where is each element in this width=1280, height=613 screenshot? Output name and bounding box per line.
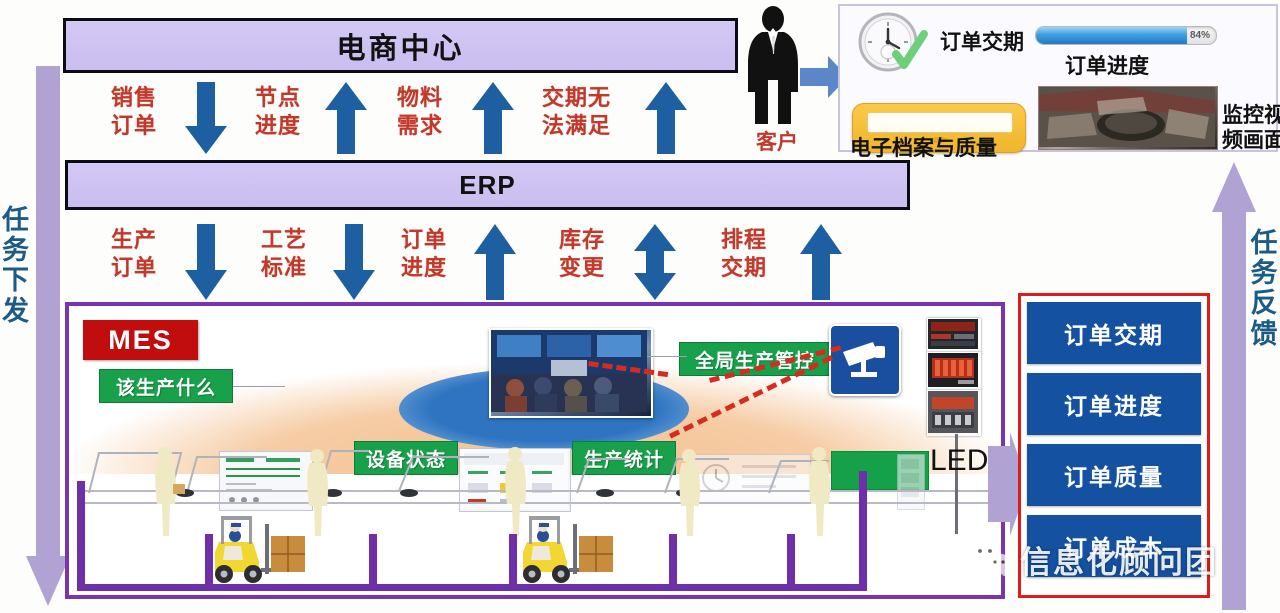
flow-mid-label-3: 库存 变更: [544, 226, 620, 282]
flow-mid-arrow-up-2: [474, 224, 516, 300]
label-line: 进度: [240, 112, 316, 140]
kpi-box-order-cost[interactable]: 订单成本: [1027, 515, 1201, 577]
glabel-text: 该生产什么: [116, 373, 216, 400]
label-line: 库存: [544, 226, 620, 254]
side-char: 下: [2, 265, 28, 295]
order-progress-percent: 84%: [1190, 27, 1210, 44]
kpi-label: 订单交期: [1064, 316, 1164, 350]
kpi-panel: 订单交期 订单进度 订单质量 订单成本: [1018, 293, 1210, 598]
flow-top-arrow-down-0: [185, 82, 227, 154]
side-char: 任: [2, 205, 28, 235]
kpi-box-order-quality[interactable]: 订单质量: [1027, 444, 1201, 506]
mes-label-what-to-produce[interactable]: 该生产什么: [99, 369, 233, 403]
label-line: 法满足: [524, 112, 629, 140]
side-char: 发: [2, 296, 28, 326]
mes-frame: 该生产什么 全局生产管控 设备状态 生产统计 MES: [65, 302, 1005, 599]
flow-mid-label-2: 订单 进度: [386, 226, 462, 282]
order-progress-label: 订单进度: [1065, 50, 1149, 80]
label-line: 订单: [96, 112, 172, 140]
flow-top-arrow-up-3: [645, 82, 687, 154]
order-progress-text: 订单进度: [1065, 55, 1149, 78]
card-slot: [867, 112, 1013, 133]
floor-pillar-2: [369, 534, 377, 589]
clock-check-icon: [852, 12, 934, 74]
flow-top-label-3: 交期无 法满足: [524, 84, 629, 140]
flow-top-label-2: 物料 需求: [382, 84, 458, 140]
mes-badge-text: MES: [108, 325, 173, 356]
forklift-0: [209, 506, 319, 584]
floor-pillar-3: [509, 534, 517, 589]
label-line: 销售: [96, 84, 172, 112]
customer-figure-icon: [742, 6, 804, 128]
side-char: 反: [1250, 288, 1278, 318]
flow-mid-label-4: 排程 交期: [706, 226, 782, 282]
forklift-1: [517, 506, 627, 584]
side-char: 务: [2, 235, 28, 265]
floor-pillar-0: [77, 481, 85, 589]
label-line: 进度: [386, 254, 462, 282]
erp-label: ERP: [459, 170, 515, 201]
side-char: 馈: [1250, 319, 1278, 349]
leader-line-1: [233, 386, 285, 387]
surveillance-video-label: 监控视 频画面: [1222, 104, 1280, 154]
left-task-dispatch-arrow: [26, 66, 70, 606]
floor-pillar-5: [787, 534, 795, 589]
label-line: 节点: [240, 84, 316, 112]
label-line: 交期无: [524, 84, 629, 112]
flow-top-arrow-up-1: [325, 82, 367, 154]
led-panel-image-1: [927, 352, 981, 390]
flow-mid-arrow-updown-3: [634, 224, 676, 300]
side-char: 务: [1250, 258, 1278, 288]
floor-pillar-1: [205, 534, 213, 589]
ecommerce-center-label: 电商中心: [336, 25, 464, 67]
flow-mid-arrow-up-4: [800, 224, 842, 300]
electronic-archive-label: 电子档案与质量: [850, 132, 997, 162]
label-line: 订单: [96, 254, 172, 282]
flow-mid-label-0: 生产 订单: [96, 226, 172, 282]
floor-pillar-4: [669, 534, 677, 589]
floor-pillar-6: [859, 471, 867, 589]
erp-box[interactable]: ERP: [65, 160, 910, 210]
led-label: LED: [930, 444, 988, 478]
mes-badge: MES: [83, 320, 198, 360]
flow-top-label-0: 销售 订单: [96, 84, 172, 140]
order-delivery-label: 订单交期: [940, 26, 1024, 56]
floor-base-bar: [77, 584, 867, 591]
info-panel: 订单交期 84% 订单进度 电子档案与质量: [838, 4, 1278, 152]
label-line: 排程: [706, 226, 782, 254]
ecommerce-center-box[interactable]: 电商中心: [63, 18, 738, 73]
label-line: 订单: [386, 226, 462, 254]
label-line: 变更: [544, 254, 620, 282]
surveillance-camera-icon: [829, 324, 901, 396]
order-progress-fill: [1036, 27, 1187, 44]
label-line: 物料: [382, 84, 458, 112]
led-text: LED: [930, 444, 988, 477]
flow-mid-arrow-down-1: [333, 224, 375, 300]
label-line: 需求: [382, 112, 458, 140]
customer-text: 客户: [756, 131, 798, 154]
electronic-archive-text: 电子档案与质量: [850, 137, 997, 160]
video-label-line: 频画面: [1222, 129, 1280, 154]
flow-top-arrow-up-2: [472, 82, 514, 154]
kpi-label: 订单进度: [1064, 387, 1164, 421]
flow-top-label-1: 节点 进度: [240, 84, 316, 140]
label-line: 交期: [706, 254, 782, 282]
label-line: 标准: [246, 254, 322, 282]
label-line: 生产: [96, 226, 172, 254]
kpi-label: 订单质量: [1064, 458, 1164, 492]
led-panel-image-0: [927, 318, 981, 352]
flow-mid-label-1: 工艺 标准: [246, 226, 322, 282]
side-char: 任: [1250, 228, 1278, 258]
label-line: 工艺: [246, 226, 322, 254]
order-delivery-text: 订单交期: [940, 31, 1024, 54]
kpi-box-order-delivery[interactable]: 订单交期: [1027, 302, 1201, 364]
kpi-label: 订单成本: [1064, 529, 1164, 563]
surveillance-video-thumbnail[interactable]: [1038, 86, 1218, 150]
leader-line-0: [647, 356, 687, 357]
left-task-dispatch-label: 任 务 下 发: [2, 205, 28, 326]
right-task-feedback-label: 任 务 反 馈: [1250, 228, 1278, 349]
diagram-canvas: 任 务 下 发 任 务 反 馈 电商中心 ERP 销售 订单 节点 进度: [0, 0, 1280, 613]
flow-mid-arrow-down-0: [185, 224, 227, 300]
order-progress-bar[interactable]: 84%: [1035, 26, 1217, 45]
customer-label: 客户: [756, 126, 798, 156]
video-label-line: 监控视: [1222, 104, 1280, 129]
kpi-box-order-progress[interactable]: 订单进度: [1027, 373, 1201, 435]
